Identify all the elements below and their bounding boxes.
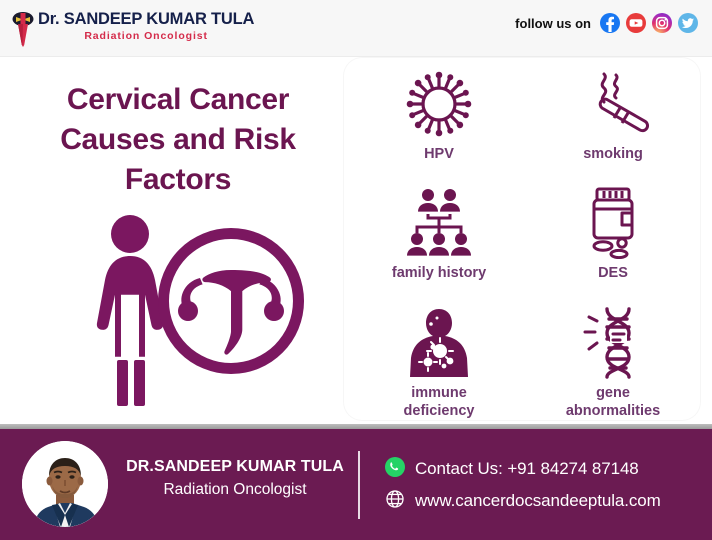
contact-website-text: www.cancerdocsandeeptula.com [415,491,661,511]
brand-logo: Dr. SANDEEP KUMAR TULA Radiation Oncolog… [12,9,254,47]
contact-phone-text: Contact Us: +91 84274 87148 [415,459,639,479]
globe-icon [384,488,406,515]
virus-icon [403,68,475,140]
pill-bottle-icon [581,187,645,259]
brand-name: Dr. SANDEEP KUMAR TULA [38,10,254,29]
doctor-role: Radiation Oncologist [120,478,350,502]
contact-phone-row[interactable]: Contact Us: +91 84274 87148 [384,453,661,485]
factor-label: gene abnormalities [566,384,660,420]
factor-des[interactable]: DES [526,181,700,300]
social-label: follow us on [515,16,591,31]
dna-helix-icon [577,307,649,379]
factor-immune-deficiency[interactable]: immune deficiency [352,301,526,420]
header-bar: Dr. SANDEEP KUMAR TULA Radiation Oncolog… [0,0,712,57]
brand-subtitle: Radiation Oncologist [38,29,254,43]
footer-bar: DR.SANDEEP KUMAR TULA Radiation Oncologi… [0,429,712,540]
factor-label: immune deficiency [404,384,475,420]
factor-smoking[interactable]: smoking [526,62,700,181]
factor-label: DES [598,264,628,282]
contact-info: Contact Us: +91 84274 87148 www.canc [384,453,661,517]
infographic-page: Dr. SANDEEP KUMAR TULA Radiation Oncolog… [0,0,712,540]
social-links: follow us on [515,13,698,33]
woman-with-uterus-diagram-icon [86,212,306,412]
contact-website-row[interactable]: www.cancerdocsandeeptula.com [384,485,661,517]
factor-label: HPV [424,145,454,163]
body-germs-icon [407,307,471,379]
family-tree-icon [403,187,475,259]
doctor-portrait-avatar [22,441,108,527]
ribbon-logo-icon [12,9,34,47]
brand-text: Dr. SANDEEP KUMAR TULA Radiation Oncolog… [38,9,254,43]
page-title: Cervical Cancer Causes and Risk Factors [18,80,338,200]
risk-factors-grid: HPV smoking [352,62,700,420]
whatsapp-icon [384,456,406,483]
factor-label: family history [392,264,486,282]
doctor-info: DR.SANDEEP KUMAR TULA Radiation Oncologi… [120,455,350,502]
youtube-icon[interactable] [626,13,646,33]
doctor-name: DR.SANDEEP KUMAR TULA [120,455,350,478]
facebook-icon[interactable] [600,13,620,33]
factor-hpv[interactable]: HPV [352,62,526,181]
cigarette-smoke-icon [574,68,652,140]
factor-gene-abnormalities[interactable]: gene abnormalities [526,301,700,420]
instagram-icon[interactable] [652,13,672,33]
factor-label: smoking [583,145,643,163]
factor-family-history[interactable]: family history [352,181,526,300]
footer-vertical-divider [358,451,360,519]
twitter-icon[interactable] [678,13,698,33]
